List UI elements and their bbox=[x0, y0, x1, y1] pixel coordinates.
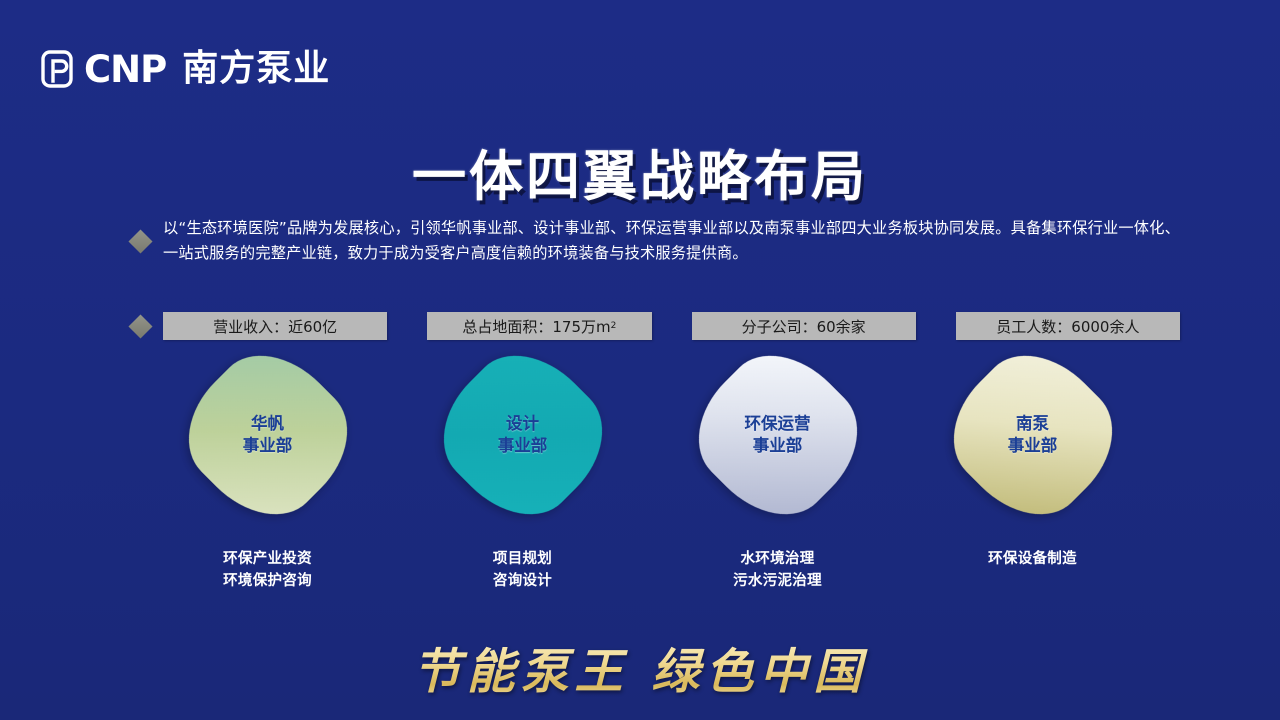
diamond-bullet-icon bbox=[128, 314, 152, 338]
stat-box-revenue: 营业收入：近60亿 bbox=[163, 312, 387, 340]
pillar-shape-wrap: 华帆 事业部 bbox=[193, 362, 343, 508]
logo-text-en: CNP bbox=[84, 51, 166, 88]
pillar-shape-wrap: 环保运营 事业部 bbox=[703, 362, 853, 508]
pillar-caption-line2: 咨询设计 bbox=[493, 570, 552, 592]
pillar-huafan[interactable]: 华帆 事业部 环保产业投资 环境保护咨询 bbox=[140, 362, 395, 592]
pillars-row: 华帆 事业部 环保产业投资 环境保护咨询 设计 事业部 项目规划 咨询设计 bbox=[140, 362, 1160, 592]
pillar-caption-line1: 环保设备制造 bbox=[988, 548, 1077, 570]
description-block: 以“生态环境医院”品牌为发展核心，引领华帆事业部、设计事业部、环保运营事业部以及… bbox=[132, 216, 1180, 266]
pillar-caption: 项目规划 咨询设计 bbox=[493, 548, 552, 592]
pillar-name-line2: 事业部 bbox=[243, 435, 293, 457]
footer-slogan: 节能泵王 绿色中国 bbox=[0, 632, 1280, 702]
pillar-name-line2: 事业部 bbox=[745, 435, 811, 457]
stat-box-subsidiaries: 分子公司：60余家 bbox=[692, 312, 916, 340]
pillar-name-line2: 事业部 bbox=[1008, 435, 1058, 457]
pillar-caption: 环保设备制造 bbox=[988, 548, 1077, 570]
pillar-name-line1: 设计 bbox=[506, 414, 539, 433]
pillar-name: 设计 事业部 bbox=[498, 413, 548, 457]
cnp-monogram-icon bbox=[40, 50, 74, 88]
pillar-name: 环保运营 事业部 bbox=[745, 413, 811, 457]
pillar-caption-line1: 水环境治理 bbox=[733, 548, 822, 570]
pillar-caption-line1: 环保产业投资 bbox=[223, 548, 312, 570]
pillar-huanbaoyunying[interactable]: 环保运营 事业部 水环境治理 污水污泥治理 bbox=[650, 362, 905, 592]
pillar-name-line1: 南泵 bbox=[1016, 414, 1049, 433]
brand-logo: CNP 南方泵业 bbox=[40, 50, 330, 88]
pillar-nanbeng[interactable]: 南泵 事业部 环保设备制造 bbox=[905, 362, 1160, 592]
pillar-caption: 水环境治理 污水污泥治理 bbox=[733, 548, 822, 592]
page-title: 一体四翼战略布局 bbox=[0, 132, 1280, 211]
stat-box-employees: 员工人数：6000余人 bbox=[956, 312, 1180, 340]
logo-text-cn: 南方泵业 bbox=[182, 51, 330, 87]
pillar-caption-line1: 项目规划 bbox=[493, 548, 552, 570]
stat-box-area: 总占地面积：175万m2 bbox=[427, 312, 651, 340]
stats-list: 营业收入：近60亿 总占地面积：175万m2 分子公司：60余家 员工人数：60… bbox=[163, 312, 1180, 340]
pillar-sheji[interactable]: 设计 事业部 项目规划 咨询设计 bbox=[395, 362, 650, 592]
pillar-caption-line2: 环境保护咨询 bbox=[223, 570, 312, 592]
pillar-name-line1: 环保运营 bbox=[745, 414, 811, 433]
pillar-shape-wrap: 设计 事业部 bbox=[448, 362, 598, 508]
slide-canvas: CNP 南方泵业 一体四翼战略布局 以“生态环境医院”品牌为发展核心，引领华帆事… bbox=[0, 0, 1280, 720]
diamond-bullet-icon bbox=[128, 229, 152, 253]
stats-block: 营业收入：近60亿 总占地面积：175万m2 分子公司：60余家 员工人数：60… bbox=[132, 312, 1180, 340]
pillar-name: 华帆 事业部 bbox=[243, 413, 293, 457]
description-text: 以“生态环境医院”品牌为发展核心，引领华帆事业部、设计事业部、环保运营事业部以及… bbox=[163, 216, 1180, 266]
pillar-name-line2: 事业部 bbox=[498, 435, 548, 457]
pillar-caption: 环保产业投资 环境保护咨询 bbox=[223, 548, 312, 592]
pillar-shape-wrap: 南泵 事业部 bbox=[958, 362, 1108, 508]
pillar-caption-line2: 污水污泥治理 bbox=[733, 570, 822, 592]
pillar-name: 南泵 事业部 bbox=[1008, 413, 1058, 457]
pillar-name-line1: 华帆 bbox=[251, 414, 284, 433]
